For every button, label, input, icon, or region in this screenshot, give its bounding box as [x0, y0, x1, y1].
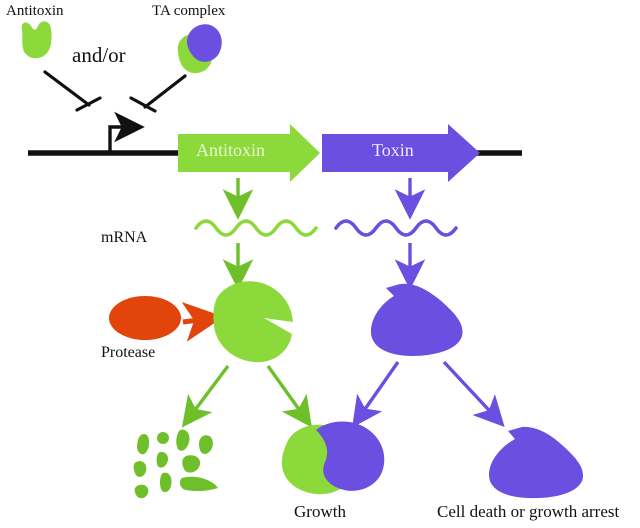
free-toxin-bottom: [489, 427, 583, 498]
toxin-protein: [371, 284, 463, 356]
mrna-wave-toxin: [336, 221, 456, 235]
label-antitoxin-top: Antitoxin: [6, 4, 64, 19]
label-growth: Growth: [294, 503, 346, 520]
antitoxin-protein: [213, 281, 293, 362]
arrow-to-degraded-antitoxin: [186, 366, 228, 422]
label-and-or: and/or: [72, 45, 126, 66]
label-ta-complex: TA complex: [152, 4, 225, 19]
antitoxin-protein-top: [22, 21, 52, 58]
ta-complex-top: [178, 24, 222, 73]
ta-complex-bottom: [282, 421, 384, 494]
arrow-to-ta-complex-bottom: [268, 366, 308, 422]
label-protease: Protease: [101, 345, 155, 361]
protease-shape: [109, 296, 214, 340]
arrow-toxin-to-free-toxin: [444, 362, 500, 422]
label-mrna: mRNA: [101, 230, 147, 246]
promoter-bent-arrow: [110, 127, 138, 153]
gene-label-antitoxin: Antitoxin: [196, 141, 265, 159]
arrow-toxin-to-complex: [356, 362, 398, 422]
degraded-antitoxin-fragments: [134, 430, 218, 499]
diagram-canvas: Antitoxin TA complex and/or mRNA Proteas…: [0, 0, 640, 528]
diagram-vector-layer: [0, 0, 640, 528]
repression-arrow-ta-complex: [131, 76, 185, 111]
repression-arrow-antitoxin: [45, 72, 100, 110]
mrna-wave-antitoxin: [196, 221, 316, 235]
label-cell-death: Cell death or growth arrest: [437, 503, 619, 520]
gene-label-toxin: Toxin: [372, 141, 414, 159]
